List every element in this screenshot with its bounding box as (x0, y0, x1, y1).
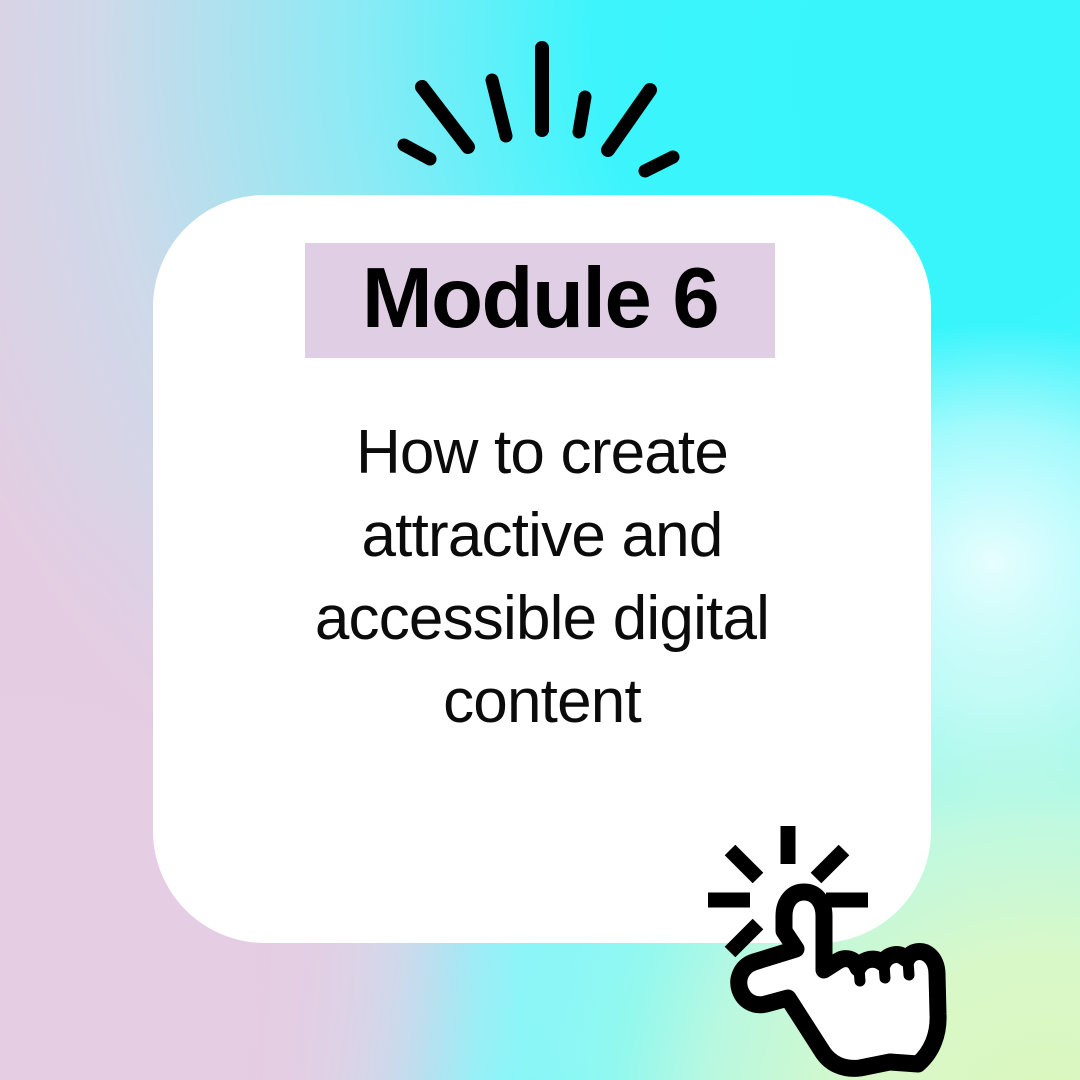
pointing-hand-click-icon (692, 818, 972, 1080)
sparkle-burst-icon (385, 35, 695, 195)
poster-canvas: Module 6 How to create attractive and ac… (0, 0, 1080, 1080)
subtitle-line-1: How to create (213, 411, 871, 494)
subtitle-line-2: attractive and (213, 494, 871, 577)
card-subtitle: How to create attractive and accessible … (213, 411, 871, 743)
subtitle-line-3: accessible digital (213, 577, 871, 660)
subtitle-line-4: content (213, 660, 871, 743)
module-badge-label: Module 6 (362, 256, 718, 341)
module-badge: Module 6 (305, 243, 775, 358)
